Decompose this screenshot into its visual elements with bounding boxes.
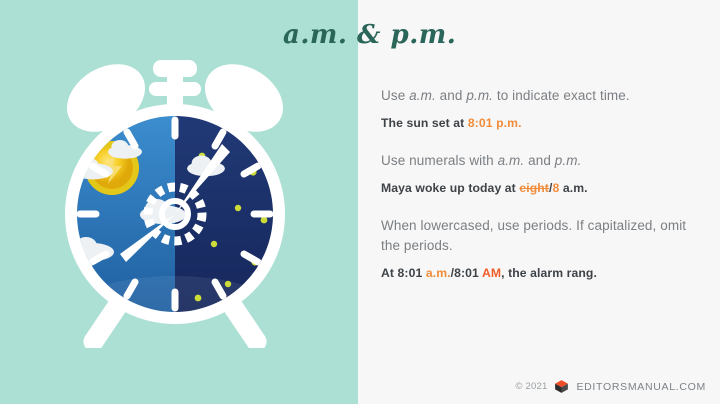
example-text-3: At 8:01 a.m./8:01 AM, the alarm rang.	[381, 264, 701, 282]
example-1-highlight: 8:01 p.m.	[468, 116, 522, 130]
rule-1-part-1: Use	[381, 88, 409, 103]
rule-1-part-3: and	[436, 88, 467, 103]
example-3-part-1: At 8:01	[381, 266, 426, 280]
rules-list: Use a.m. and p.m. to indicate exact time…	[381, 86, 701, 282]
rule-1-part-4: p.m.	[466, 88, 493, 103]
copyright-text: © 2021	[515, 381, 547, 392]
alarm-clock-illustration	[50, 48, 300, 348]
example-3-highlight-lower: a.m.	[426, 266, 451, 280]
rule-text-2: Use numerals with a.m. and p.m.	[381, 151, 701, 171]
example-3-part-5: , the alarm rang.	[501, 266, 597, 280]
rule-2-part-3: and	[524, 153, 555, 168]
rule-2-part-4: p.m.	[555, 153, 582, 168]
example-text-2: Maya woke up today at eight/8 a.m.	[381, 179, 701, 197]
rule-1-part-5: to indicate exact time.	[493, 88, 630, 103]
rule-text-1: Use a.m. and p.m. to indicate exact time…	[381, 86, 701, 106]
example-3-part-3: /8:01	[451, 266, 482, 280]
brand-text: EDITORSMANUAL.COM	[576, 381, 706, 393]
rule-block-1: Use a.m. and p.m. to indicate exact time…	[381, 86, 701, 132]
rule-2-part-2: a.m.	[498, 153, 525, 168]
example-2-part-5: a.m.	[559, 181, 587, 195]
example-3-highlight-upper: AM	[482, 266, 501, 280]
example-2-part-1: Maya woke up today at	[381, 181, 519, 195]
slide-root: a.m. & p.m.	[0, 0, 720, 404]
rule-block-2: Use numerals with a.m. and p.m. Maya wok…	[381, 151, 701, 197]
cube-logo-icon	[553, 378, 570, 395]
rule-text-3: When lowercased, use periods. If capital…	[381, 216, 701, 256]
example-text-1: The sun set at 8:01 p.m.	[381, 114, 701, 132]
example-2-strikethrough: eight	[519, 181, 549, 195]
rule-block-3: When lowercased, use periods. If capital…	[381, 216, 701, 282]
rule-1-part-2: a.m.	[409, 88, 436, 103]
rule-2-part-1: Use numerals with	[381, 153, 498, 168]
page-title: a.m. & p.m.	[283, 20, 456, 50]
example-1-part-1: The sun set at	[381, 116, 468, 130]
footer: © 2021 EDITORSMANUAL.COM	[515, 378, 706, 395]
